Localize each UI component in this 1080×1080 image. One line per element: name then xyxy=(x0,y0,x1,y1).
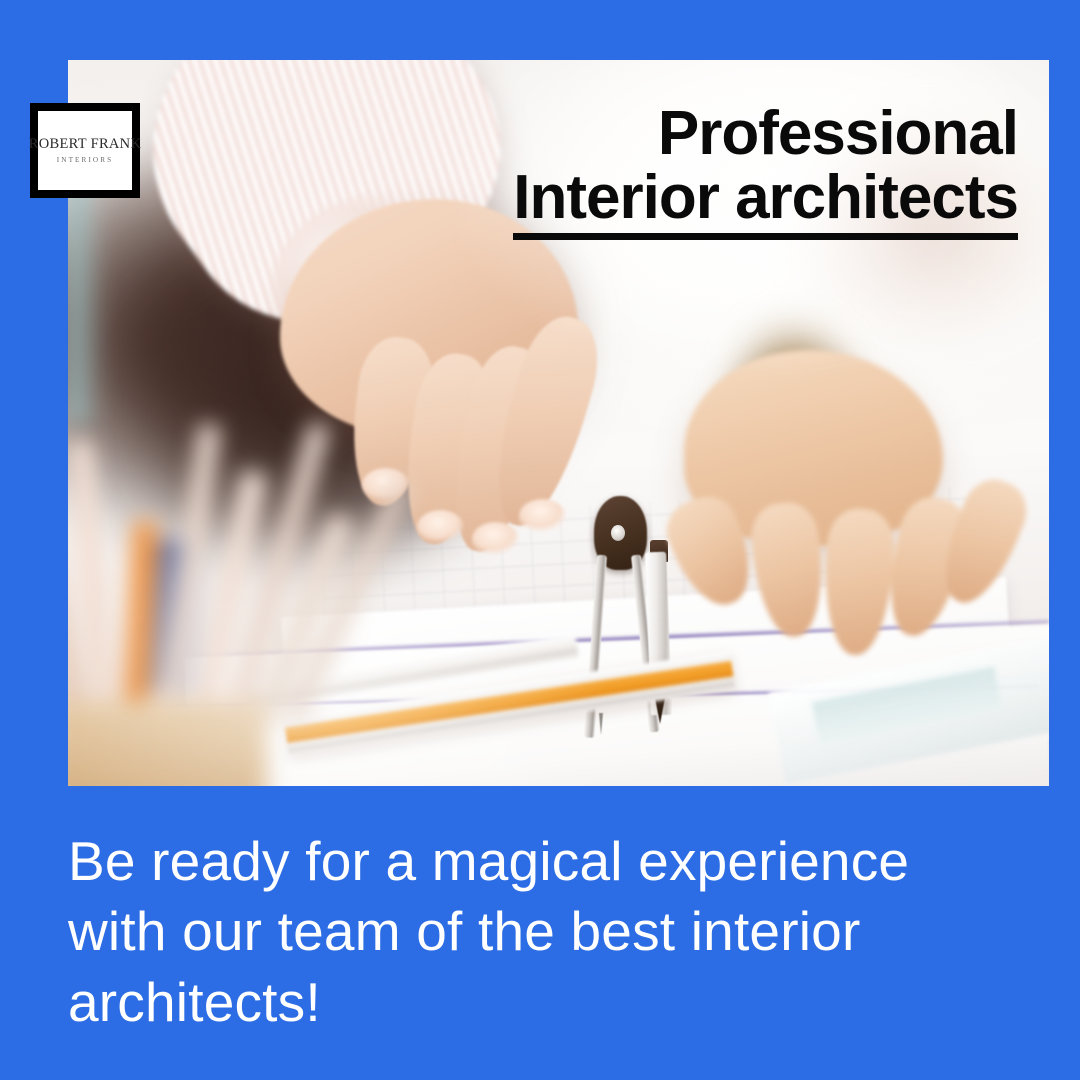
left-hand-nail-middle xyxy=(417,510,464,545)
left-hand-nail-ring xyxy=(472,522,519,557)
headline-line-2: Interior architects xyxy=(513,166,1018,239)
headline-line-1: Professional xyxy=(513,102,1018,166)
compass-pencil-tip xyxy=(655,698,665,724)
pencil-cup-body xyxy=(68,701,267,786)
headline: Professional Interior architects xyxy=(513,102,1018,240)
right-hand-finger-middle xyxy=(822,507,896,657)
brand-subtitle: INTERIORS xyxy=(57,157,113,164)
caption-text: Be ready for a magical experience with o… xyxy=(68,826,1008,1037)
brand-logo[interactable]: ROBERT FRANK INTERIORS xyxy=(30,103,140,198)
right-hand xyxy=(676,350,1049,655)
brand-name: ROBERT FRANK xyxy=(29,137,141,152)
compass-needle-tip xyxy=(599,713,603,735)
foreground-pencil-cup xyxy=(68,350,402,786)
social-media-poster: Professional Interior architects ROBERT … xyxy=(0,0,1080,1080)
